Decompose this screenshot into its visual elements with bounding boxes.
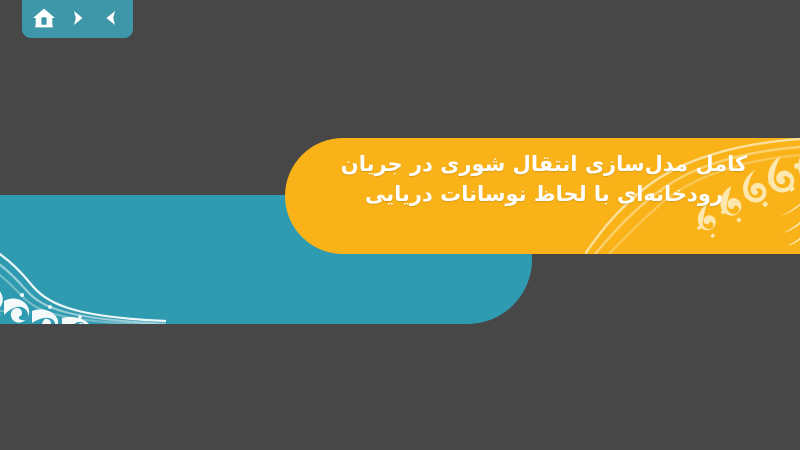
home-button[interactable] [31,5,57,31]
orange-title-band: کامل مدل‌سازی انتقال شوری در جریان رودخا… [285,138,800,254]
forward-button[interactable] [65,5,91,31]
navigation-bar [22,0,133,38]
slide-title: کامل مدل‌سازی انتقال شوری در جریان رودخا… [285,150,800,210]
triangle-left-icon [101,8,121,28]
back-button[interactable] [98,5,124,31]
triangle-right-icon [68,8,88,28]
arabesque-corner-ornament [0,195,166,324]
presentation-slide: کامل مدل‌سازی انتقال شوری در جریان رودخا… [0,0,800,450]
title-line-1: کامل مدل‌سازی انتقال شوری در جریان [285,150,800,180]
title-line-2: رودخانه‌ای با لحاظ نوسانات دریایی [285,180,800,210]
home-icon [32,7,56,29]
